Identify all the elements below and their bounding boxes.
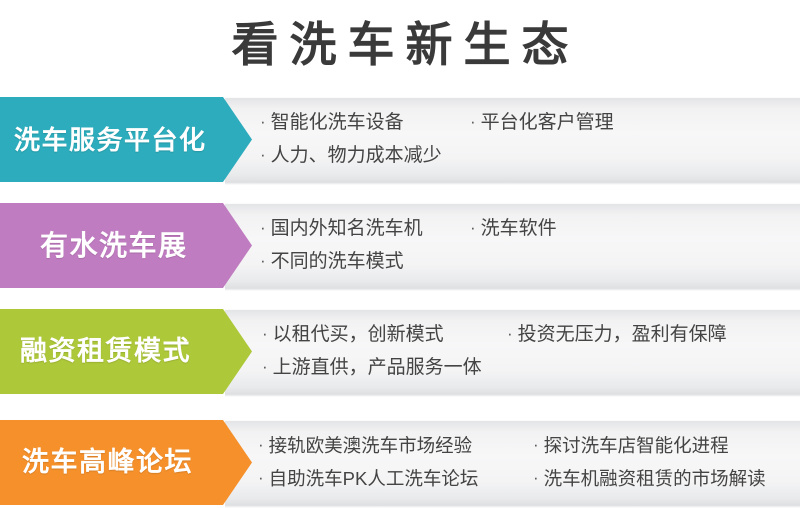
category-label: 融资租赁模式 [0, 338, 191, 365]
list-item: ·不同的洗车模式 [260, 251, 470, 273]
list-item-text: 智能化洗车设备 [271, 112, 404, 134]
bullet-list: ·接轨欧美澳洗车市场经验 ·探讨洗车店智能化进程 ·自助洗车PK人工洗车论坛 ·… [258, 420, 798, 505]
bullet-dot-icon: · [262, 323, 268, 345]
list-item: ·探讨洗车店智能化进程 [533, 435, 798, 457]
bullet-dot-icon: · [470, 111, 476, 133]
category-label: 洗车高峰论坛 [0, 449, 193, 476]
page-title: 看洗车新生态 [221, 21, 580, 68]
category-row: 洗车高峰论坛 ·接轨欧美澳洗车市场经验 ·探讨洗车店智能化进程 ·自助洗车PK人… [0, 420, 800, 505]
bullet-dot-icon: · [533, 467, 539, 489]
bullet-dot-icon: · [260, 217, 266, 239]
list-item-text: 探讨洗车店智能化进程 [544, 435, 729, 457]
category-tab-1[interactable]: 洗车服务平台化 [0, 97, 252, 182]
category-label: 有水洗车展 [0, 232, 188, 260]
list-item: ·自助洗车PK人工洗车论坛 [258, 468, 533, 490]
bullet-dot-icon: · [260, 250, 266, 272]
list-item-text: 不同的洗车模式 [271, 251, 404, 273]
bullet-dot-icon: · [260, 144, 266, 166]
list-item-text: 人力、物力成本减少 [271, 145, 442, 167]
list-item-text: 接轨欧美澳洗车市场经验 [269, 435, 473, 457]
bullet-list: ·国内外知名洗车机 ·洗车软件 ·不同的洗车模式 · [260, 203, 800, 288]
bullet-dot-icon: · [507, 323, 513, 345]
list-item-text: 洗车软件 [481, 218, 557, 240]
list-item-text: 自助洗车PK人工洗车论坛 [269, 468, 479, 490]
bullet-list: ·以租代买，创新模式 ·投资无压力，盈利有保障 ·上游直供，产品服务一体 · [262, 309, 800, 394]
category-label: 洗车服务平台化 [0, 127, 207, 153]
infographic-poster: 看洗车新生态 洗车服务平台化 ·智能化洗车设备 ·平台化客户管理 ·人力、物力成… [0, 0, 800, 506]
category-tab-4[interactable]: 洗车高峰论坛 [0, 420, 252, 505]
bullet-dot-icon: · [262, 356, 268, 378]
category-row: 融资租赁模式 ·以租代买，创新模式 ·投资无压力，盈利有保障 ·上游直供，产品服… [0, 309, 800, 394]
list-item: ·人力、物力成本减少 [260, 145, 470, 167]
bullet-dot-icon: · [533, 434, 539, 456]
bullet-dot-icon: · [258, 467, 264, 489]
list-item: ·投资无压力，盈利有保障 [507, 324, 800, 346]
list-item-text: 投资无压力，盈利有保障 [518, 324, 727, 346]
poster-header: 看洗车新生态 [0, 0, 800, 88]
list-item-text: 国内外知名洗车机 [271, 218, 423, 240]
list-item: ·国内外知名洗车机 [260, 218, 470, 240]
list-item-text: 洗车机融资租赁的市场解读 [544, 468, 766, 490]
list-item-text: 上游直供，产品服务一体 [273, 357, 482, 379]
list-item: ·洗车机融资租赁的市场解读 [533, 468, 798, 490]
list-item: ·上游直供，产品服务一体 [262, 357, 507, 379]
list-item-text: 平台化客户管理 [481, 112, 614, 134]
bullet-dot-icon: · [470, 217, 476, 239]
list-item: ·平台化客户管理 [470, 112, 800, 134]
list-item: ·接轨欧美澳洗车市场经验 [258, 435, 533, 457]
list-item-text: 以租代买，创新模式 [273, 324, 444, 346]
category-row: 洗车服务平台化 ·智能化洗车设备 ·平台化客户管理 ·人力、物力成本减少 · [0, 97, 800, 182]
bullet-dot-icon: · [260, 111, 266, 133]
list-item: ·以租代买，创新模式 [262, 324, 507, 346]
list-item: ·智能化洗车设备 [260, 112, 470, 134]
category-row: 有水洗车展 ·国内外知名洗车机 ·洗车软件 ·不同的洗车模式 · [0, 203, 800, 288]
bullet-dot-icon: · [258, 434, 264, 456]
category-tab-3[interactable]: 融资租赁模式 [0, 309, 252, 394]
list-item: ·洗车软件 [470, 218, 800, 240]
category-tab-2[interactable]: 有水洗车展 [0, 203, 252, 288]
bullet-list: ·智能化洗车设备 ·平台化客户管理 ·人力、物力成本减少 · [260, 97, 800, 182]
